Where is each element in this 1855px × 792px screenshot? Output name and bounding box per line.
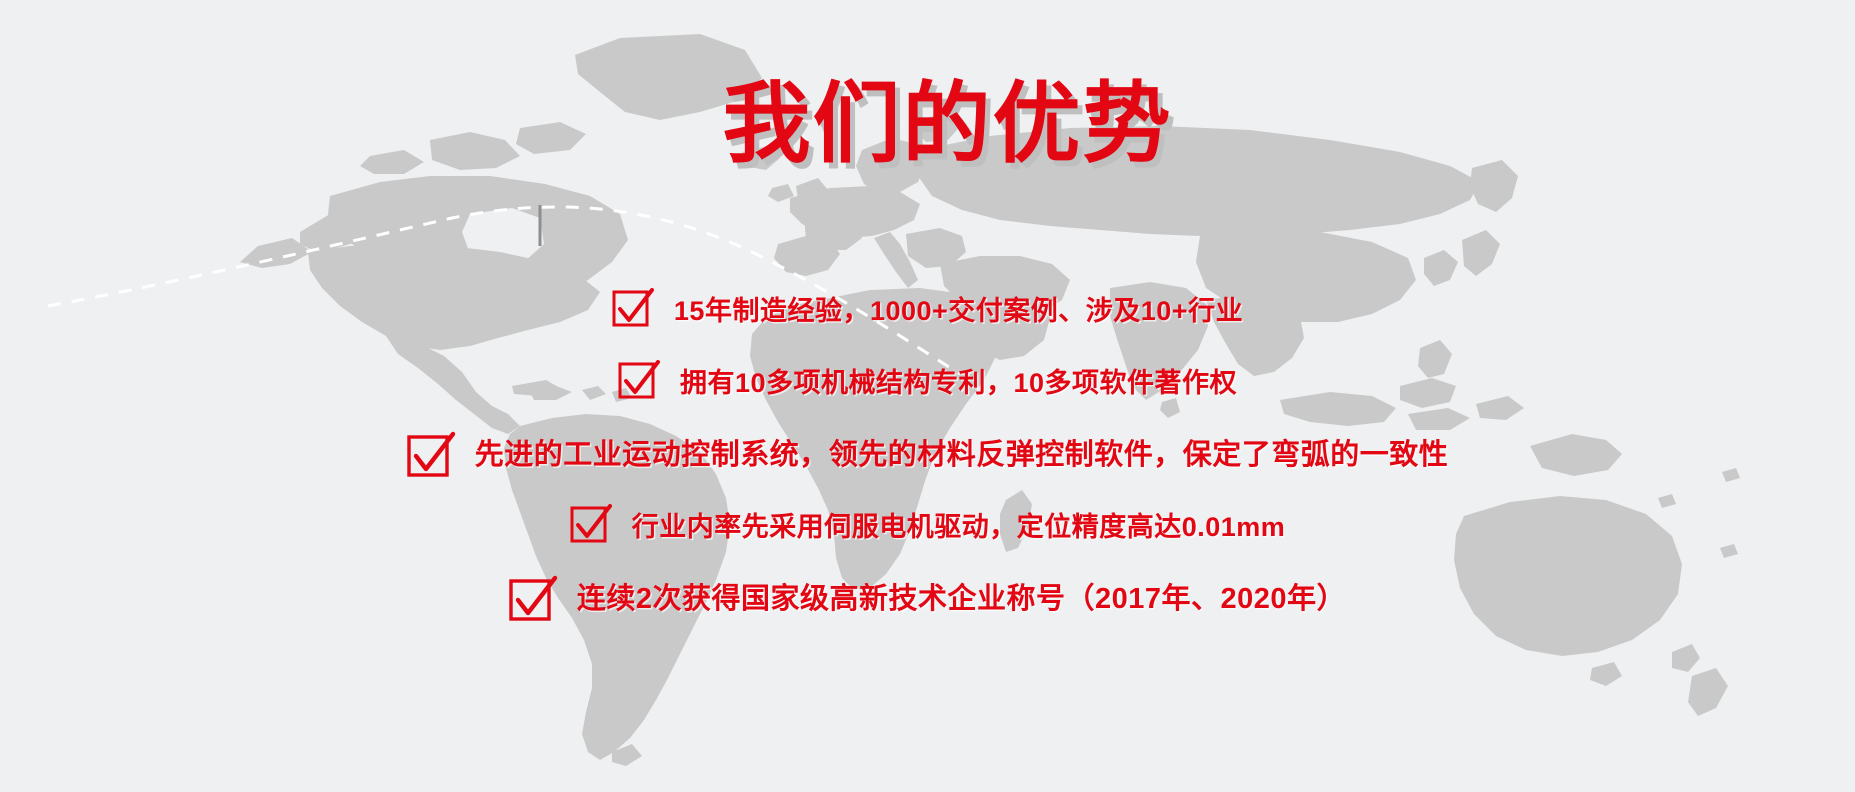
list-item: 连续2次获得国家级高新技术企业称号（2017年、2020年） [0,560,1855,632]
advantages-list: 15年制造经验，1000+交付案例、涉及10+行业 拥有10多项机械结构专利，1… [0,272,1855,632]
checkbox-checked-icon [407,432,453,472]
checkbox-checked-icon [570,504,610,544]
checkbox-checked-icon [618,360,658,400]
list-item-label: 15年制造经验，1000+交付案例、涉及10+行业 [674,289,1243,328]
list-item-label: 拥有10多项机械结构专利，10多项软件著作权 [680,361,1237,400]
list-item: 先进的工业运动控制系统，领先的材料反弹控制软件，保定了弯弧的一致性 [0,416,1855,488]
checkbox-checked-icon [509,576,555,616]
list-item-label: 行业内率先采用伺服电机驱动，定位精度高达0.01mm [632,505,1286,544]
advantages-banner: 我们的优势 15年制造经验，1000+交付案例、涉及10+行业 [0,0,1855,792]
page-title: 我们的优势 [0,78,1855,170]
list-item: 行业内率先采用伺服电机驱动，定位精度高达0.01mm [0,488,1855,560]
list-item: 拥有10多项机械结构专利，10多项软件著作权 [0,344,1855,416]
list-item-label: 连续2次获得国家级高新技术企业称号（2017年、2020年） [577,575,1346,617]
checkbox-checked-icon [612,288,652,328]
banner-content: 我们的优势 15年制造经验，1000+交付案例、涉及10+行业 [0,0,1855,792]
list-item: 15年制造经验，1000+交付案例、涉及10+行业 [0,272,1855,344]
list-item-label: 先进的工业运动控制系统，领先的材料反弹控制软件，保定了弯弧的一致性 [475,431,1449,473]
